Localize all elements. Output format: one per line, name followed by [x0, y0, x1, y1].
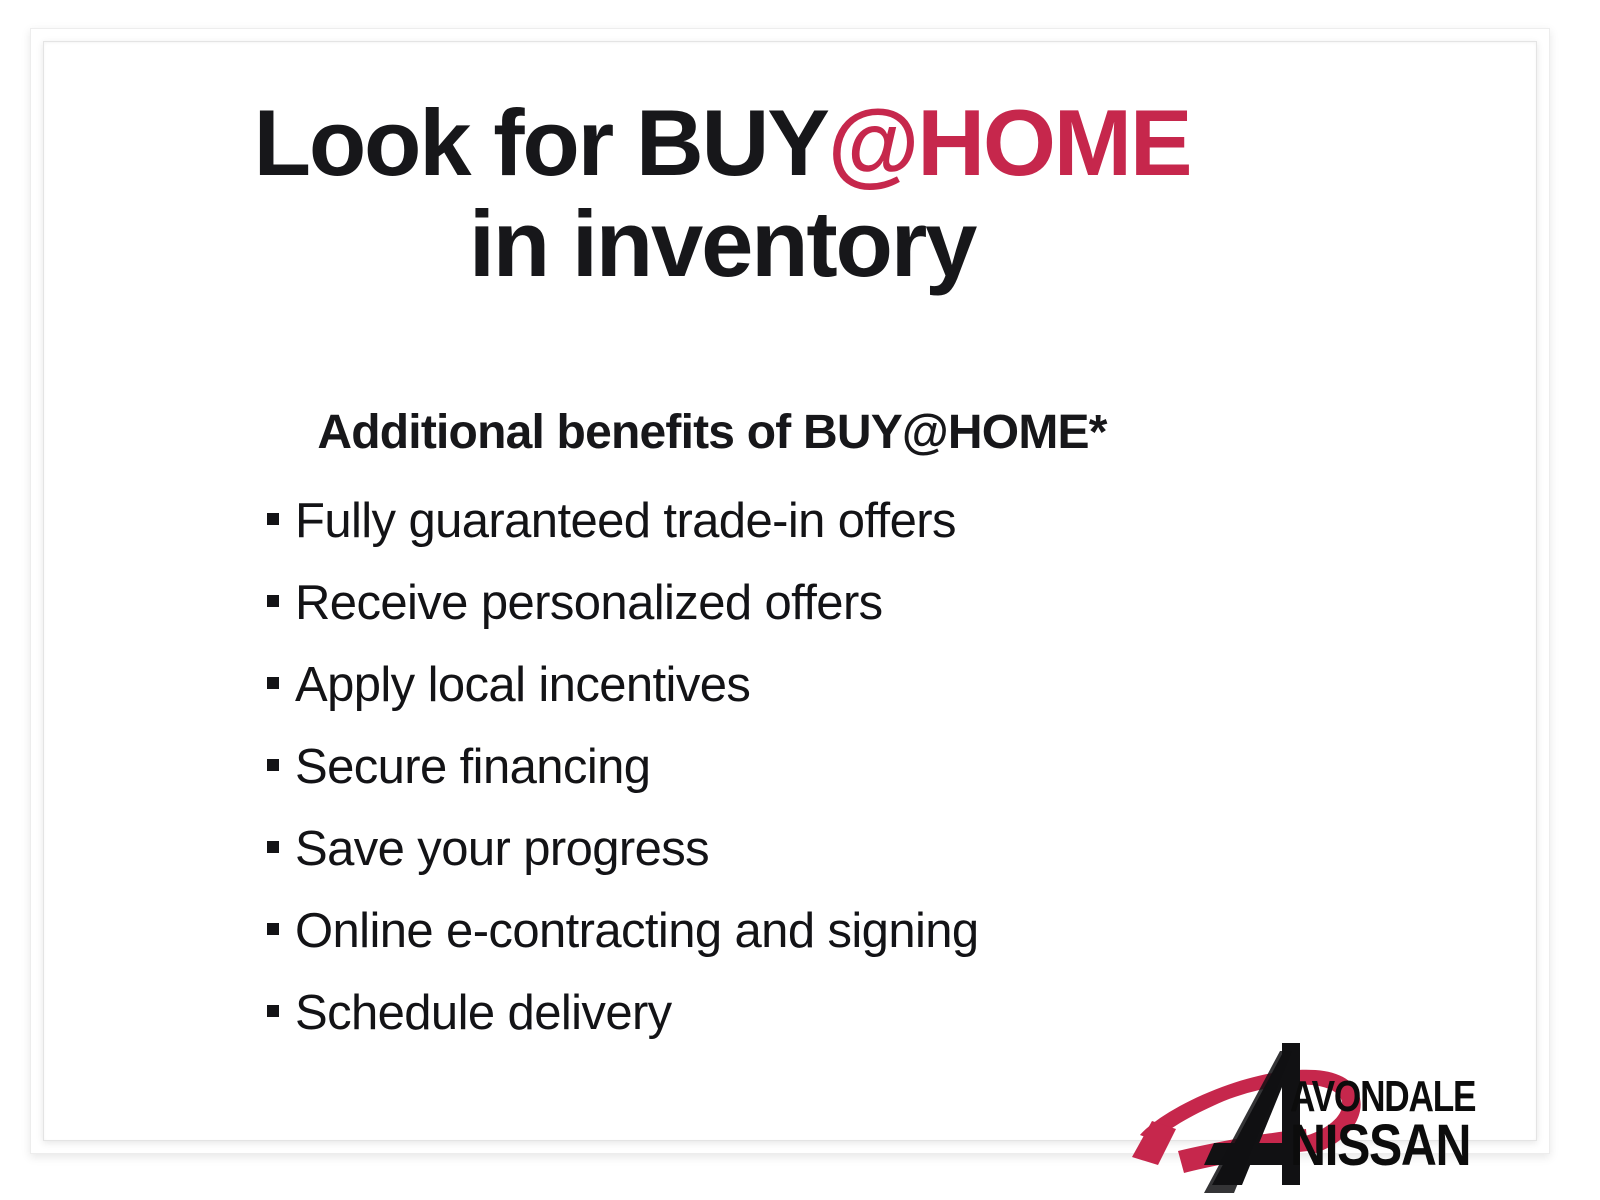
list-item: Online e-contracting and signing — [267, 890, 979, 972]
square-bullet-icon — [267, 1005, 279, 1017]
logo-line-nissan: NISSAN — [1290, 1119, 1471, 1173]
list-item-label: Fully guaranteed trade-in offers — [295, 480, 956, 562]
list-item: Schedule delivery — [267, 972, 979, 1054]
page-title: Look for BUY@HOME in inventory — [52, 92, 1392, 294]
list-item-label: Online e-contracting and signing — [295, 890, 979, 972]
headline-plain-text: Look for BUY — [254, 90, 828, 195]
list-item-label: Schedule delivery — [295, 972, 672, 1054]
logo-wordmark: AVONDALE NISSAN — [1290, 1077, 1500, 1173]
headline-accent-text: @HOME — [828, 90, 1191, 195]
slide-content: Look for BUY@HOME in inventory Additiona… — [52, 50, 1528, 1132]
list-item: Secure financing — [267, 726, 979, 808]
square-bullet-icon — [267, 923, 279, 935]
list-item-label: Apply local incentives — [295, 644, 750, 726]
square-bullet-icon — [267, 513, 279, 525]
subheading: Additional benefits of BUY@HOME* — [52, 405, 1372, 461]
square-bullet-icon — [267, 841, 279, 853]
list-item-label: Save your progress — [295, 808, 709, 890]
headline-second-line: in inventory — [52, 193, 1392, 294]
square-bullet-icon — [267, 759, 279, 771]
square-bullet-icon — [267, 677, 279, 689]
list-item: Save your progress — [267, 808, 979, 890]
benefits-list: Fully guaranteed trade-in offers Receive… — [267, 480, 979, 1054]
avondale-nissan-logo: AVONDALE NISSAN — [1092, 1025, 1492, 1200]
list-item: Receive personalized offers — [267, 562, 979, 644]
list-item: Fully guaranteed trade-in offers — [267, 480, 979, 562]
list-item-label: Receive personalized offers — [295, 562, 883, 644]
slide-canvas: Look for BUY@HOME in inventory Additiona… — [0, 0, 1600, 1200]
list-item: Apply local incentives — [267, 644, 979, 726]
logo-line-avondale: AVONDALE — [1290, 1077, 1458, 1117]
list-item-label: Secure financing — [295, 726, 650, 808]
square-bullet-icon — [267, 595, 279, 607]
